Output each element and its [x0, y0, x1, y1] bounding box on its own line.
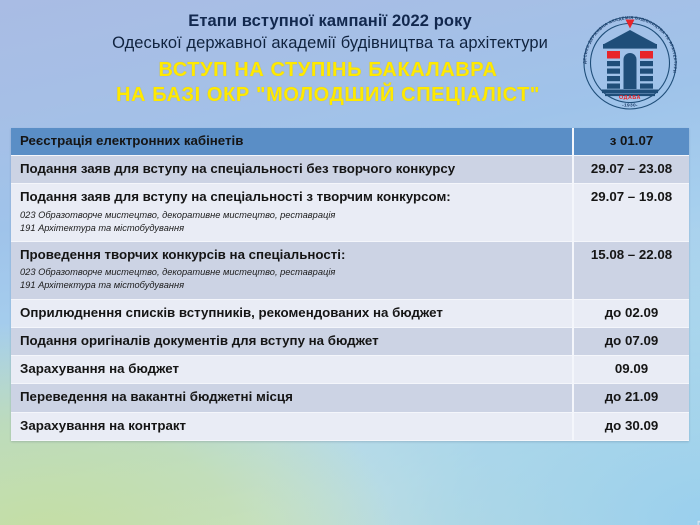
- date-cell: до 02.09: [573, 299, 689, 327]
- date-cell: до 21.09: [573, 384, 689, 412]
- date-cell: 29.07 – 19.08: [573, 184, 689, 242]
- task-cell: Зарахування на бюджет: [11, 356, 573, 384]
- date-cell: 09.09: [573, 356, 689, 384]
- svg-text:-1930-: -1930-: [622, 103, 638, 109]
- slide-canvas: Етапи вступної кампанії 2022 року Одеськ…: [0, 0, 700, 525]
- date-cell: до 07.09: [573, 327, 689, 355]
- table-row: Реєстрація електронних кабінетівз 01.07: [11, 128, 689, 156]
- date-value: 15.08 – 22.08: [583, 247, 680, 263]
- table-row: Проведення творчих конкурсів на спеціаль…: [11, 242, 689, 300]
- svg-text:ОДАБА: ОДАБА: [619, 95, 641, 101]
- specialty-item: 023 Образотворче мистецтво, декоративне …: [20, 266, 563, 279]
- task-cell: Проведення творчих конкурсів на спеціаль…: [11, 242, 573, 300]
- specialty-item: 191 Архітектура та містобудування: [20, 222, 563, 235]
- specialty-item: 023 Образотворче мистецтво, декоративне …: [20, 209, 563, 222]
- task-title: Переведення на вакантні бюджетні місця: [20, 389, 563, 405]
- date-cell: 15.08 – 22.08: [573, 242, 689, 300]
- task-title: Реєстрація електронних кабінетів: [20, 133, 563, 149]
- table-row: Подання заяв для вступу на спеціальності…: [11, 184, 689, 242]
- date-cell: з 01.07: [573, 128, 689, 156]
- admission-schedule-table: Реєстрація електронних кабінетівз 01.07П…: [11, 128, 689, 441]
- date-cell: до 30.09: [573, 412, 689, 440]
- date-value: до 07.09: [583, 333, 680, 349]
- date-value: до 21.09: [583, 389, 680, 405]
- odaba-logo-icon: ОДЕСЬКА ДЕРЖАВНА АКАДЕМІЯ БУДІВНИЦТВА ТА…: [576, 9, 684, 117]
- date-cell: 29.07 – 23.08: [573, 156, 689, 184]
- schedule-table-body: Реєстрація електронних кабінетівз 01.07П…: [11, 128, 689, 440]
- task-title: Проведення творчих конкурсів на спеціаль…: [20, 247, 563, 263]
- task-cell: Подання заяв для вступу на спеціальності…: [11, 184, 573, 242]
- table-row: Зарахування на контрактдо 30.09: [11, 412, 689, 440]
- table-row: Оприлюднення списків вступників, рекомен…: [11, 299, 689, 327]
- task-cell: Зарахування на контракт: [11, 412, 573, 440]
- task-title: Оприлюднення списків вступників, рекомен…: [20, 305, 563, 321]
- table-row: Переведення на вакантні бюджетні місцядо…: [11, 384, 689, 412]
- date-value: 29.07 – 23.08: [583, 161, 680, 177]
- task-cell: Подання заяв для вступу на спеціальності…: [11, 156, 573, 184]
- task-title: Подання оригіналів документів для вступу…: [20, 333, 563, 349]
- table-row: Подання оригіналів документів для вступу…: [11, 327, 689, 355]
- task-title: Подання заяв для вступу на спеціальності…: [20, 161, 563, 177]
- task-cell: Подання оригіналів документів для вступу…: [11, 327, 573, 355]
- specialty-list: 023 Образотворче мистецтво, декоративне …: [20, 266, 563, 292]
- table-row: Подання заяв для вступу на спеціальності…: [11, 156, 689, 184]
- specialty-item: 191 Архітектура та містобудування: [20, 279, 563, 292]
- task-title: Подання заяв для вступу на спеціальності…: [20, 189, 563, 205]
- task-cell: Оприлюднення списків вступників, рекомен…: [11, 299, 573, 327]
- date-value: до 02.09: [583, 305, 680, 321]
- date-value: до 30.09: [583, 418, 680, 434]
- specialty-list: 023 Образотворче мистецтво, декоративне …: [20, 209, 563, 235]
- date-value: з 01.07: [583, 133, 680, 149]
- task-title: Зарахування на контракт: [20, 418, 563, 434]
- date-value: 09.09: [583, 361, 680, 377]
- task-cell: Реєстрація електронних кабінетів: [11, 128, 573, 156]
- date-value: 29.07 – 19.08: [583, 189, 680, 205]
- table-row: Зарахування на бюджет09.09: [11, 356, 689, 384]
- watermark-label: Думская: [692, 519, 700, 525]
- slide-header: Етапи вступної кампанії 2022 року Одеськ…: [0, 0, 700, 118]
- task-title: Зарахування на бюджет: [20, 361, 563, 377]
- task-cell: Переведення на вакантні бюджетні місця: [11, 384, 573, 412]
